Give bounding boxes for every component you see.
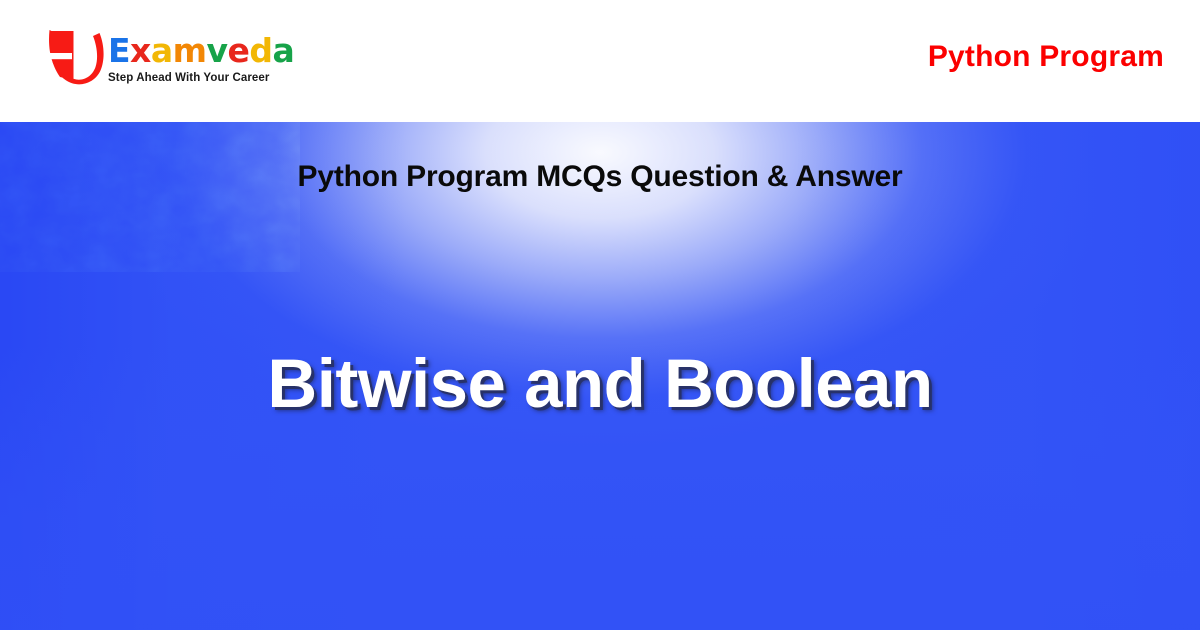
wordmark-letter-7: a: [273, 31, 295, 70]
banner-region: Python Program MCQs Question & Answer Bi…: [0, 122, 1200, 630]
wordmark-letter-5: e: [228, 31, 250, 70]
wordmark-letter-3: m: [173, 31, 207, 70]
brand-text-block: Examveda Step Ahead With Your Career: [108, 28, 294, 84]
page-header: Examveda Step Ahead With Your Career Pyt…: [0, 0, 1200, 122]
examveda-brand-logo[interactable]: Examveda Step Ahead With Your Career: [48, 28, 294, 86]
banner-main-title: Bitwise and Boolean: [0, 349, 1200, 418]
header-category-title: Python Program: [928, 40, 1164, 74]
banner-content: Python Program MCQs Question & Answer Bi…: [0, 122, 1200, 630]
wordmark-letter-6: d: [249, 31, 272, 70]
wordmark-letter-1: x: [130, 31, 151, 70]
social-card-page: Examveda Step Ahead With Your Career Pyt…: [0, 0, 1200, 630]
banner-subtitle: Python Program MCQs Question & Answer: [0, 160, 1200, 194]
brand-wordmark: Examveda: [108, 34, 294, 67]
brand-tagline: Step Ahead With Your Career: [108, 72, 294, 84]
wordmark-letter-0: E: [108, 31, 130, 70]
examveda-v-checkmark-icon: [48, 28, 104, 86]
wordmark-letter-4: v: [207, 31, 228, 70]
wordmark-letter-2: a: [151, 31, 173, 70]
